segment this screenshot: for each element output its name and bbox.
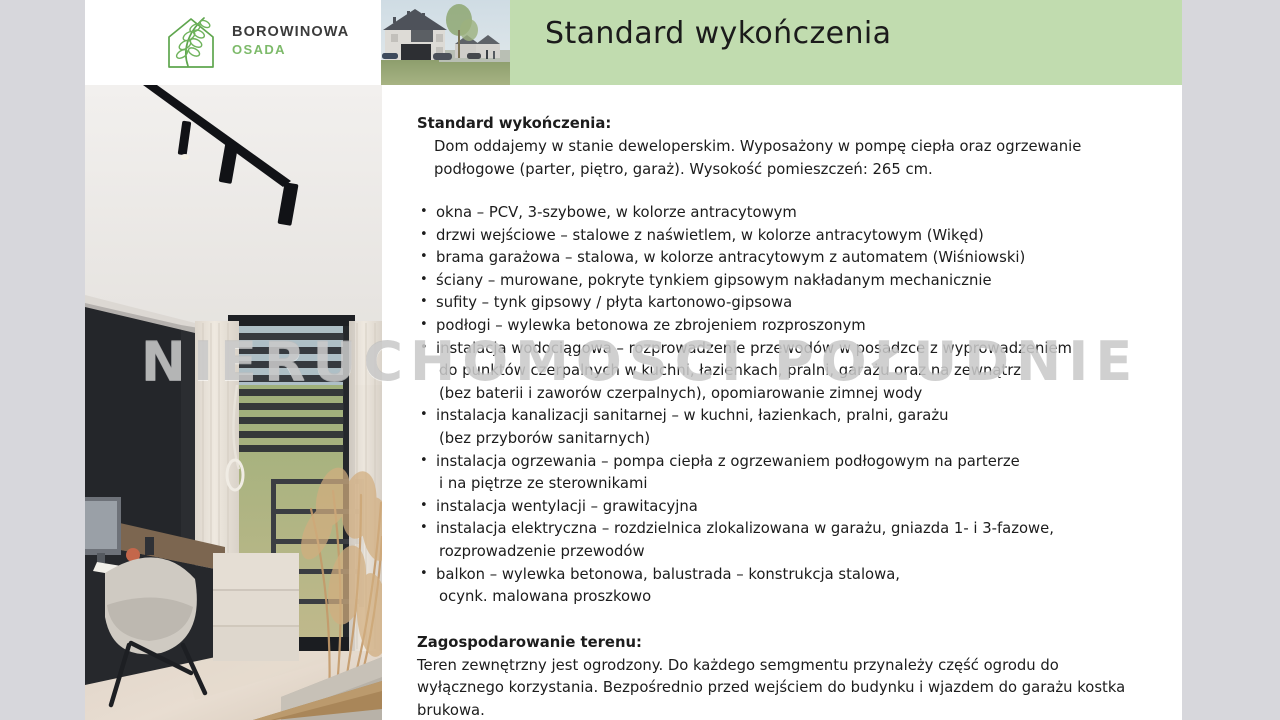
slide-header: Standard wykończenia [85,0,1182,85]
list-item: brama garażowa – stalowa, w kolorze antr… [417,247,1147,270]
slide-body: Standard wykończenia: Dom oddajemy w sta… [417,113,1147,720]
brand-logo: BOROWINOWA OSADA [160,10,375,78]
house-leaf-logo-icon [160,12,222,74]
list-item-line: okna – PCV, 3-szybowe, w kolorze antracy… [436,204,797,221]
section-lead-paragraph: Dom oddajemy w stanie deweloperskim. Wyp… [434,136,1147,181]
list-item-line: ocynk. malowana proszkowo [436,586,1147,609]
page-title: Standard wykończenia [545,16,891,51]
list-item-line: (bez baterii i zaworów czerpalnych), opo… [436,383,1147,406]
list-item: instalacja ogrzewania – pompa ciepła z o… [417,451,1147,496]
list-item-line: drzwi wejściowe – stalowe z naświetlem, … [436,227,984,244]
list-item: balkon – wylewka betonowa, balustrada – … [417,564,1147,609]
list-item: okna – PCV, 3-szybowe, w kolorze antracy… [417,202,1147,225]
list-item: podłogi – wylewka betonowa ze zbrojeniem… [417,315,1147,338]
interior-photo [85,85,382,720]
list-item-line: do punktów czerpalnych w kuchni, łazienk… [436,360,1147,383]
list-item-line: balkon – wylewka betonowa, balustrada – … [436,566,900,583]
list-item: instalacja wentylacji – grawitacyjna [417,496,1147,519]
list-item-line: podłogi – wylewka betonowa ze zbrojeniem… [436,317,866,334]
section-heading-standard: Standard wykończenia: [417,113,1147,135]
list-item-line: (bez przyborów sanitarnych) [436,428,1147,451]
list-item-line: instalacja kanalizacji sanitarnej – w ku… [436,407,949,424]
list-item-line: brama garażowa – stalowa, w kolorze antr… [436,249,1025,266]
brand-subtitle: OSADA [232,41,349,58]
list-item-line: instalacja wentylacji – grawitacyjna [436,498,698,515]
brand-logo-text: BOROWINOWA OSADA [232,24,349,58]
list-item: ściany – murowane, pokryte tynkiem gipso… [417,270,1147,293]
list-item: instalacja wodociągowa – rozprowadzenie … [417,338,1147,406]
brand-name: BOROWINOWA [232,24,349,41]
list-item: instalacja kanalizacji sanitarnej – w ku… [417,405,1147,450]
list-item-line: instalacja wodociągowa – rozprowadzenie … [436,340,1072,357]
list-item-line: instalacja elektryczna – rozdzielnica zl… [436,520,1054,537]
slide-viewer: Standard wykończenia [0,0,1280,720]
list-item: sufity – tynk gipsowy / płyta kartonowo-… [417,292,1147,315]
list-item-line: ściany – murowane, pokryte tynkiem gipso… [436,272,992,289]
section-heading-zagospodarowanie: Zagospodarowanie terenu: [417,632,1147,654]
slide-page: Standard wykończenia [85,0,1182,720]
list-item-line: instalacja ogrzewania – pompa ciepła z o… [436,453,1020,470]
list-item-line: rozprowadzenie przewodów [436,541,1147,564]
section-paragraph-zagospodarowanie: Teren zewnętrzny jest ogrodzony. Do każd… [417,655,1147,720]
specification-list: okna – PCV, 3-szybowe, w kolorze antracy… [417,202,1147,609]
list-item-line: sufity – tynk gipsowy / płyta kartonowo-… [436,294,792,311]
list-item: drzwi wejściowe – stalowe z naświetlem, … [417,225,1147,248]
header-thumbnail-photo [381,0,510,85]
list-item: instalacja elektryczna – rozdzielnica zl… [417,518,1147,563]
list-item-line: i na piętrze ze sterownikami [436,473,1147,496]
